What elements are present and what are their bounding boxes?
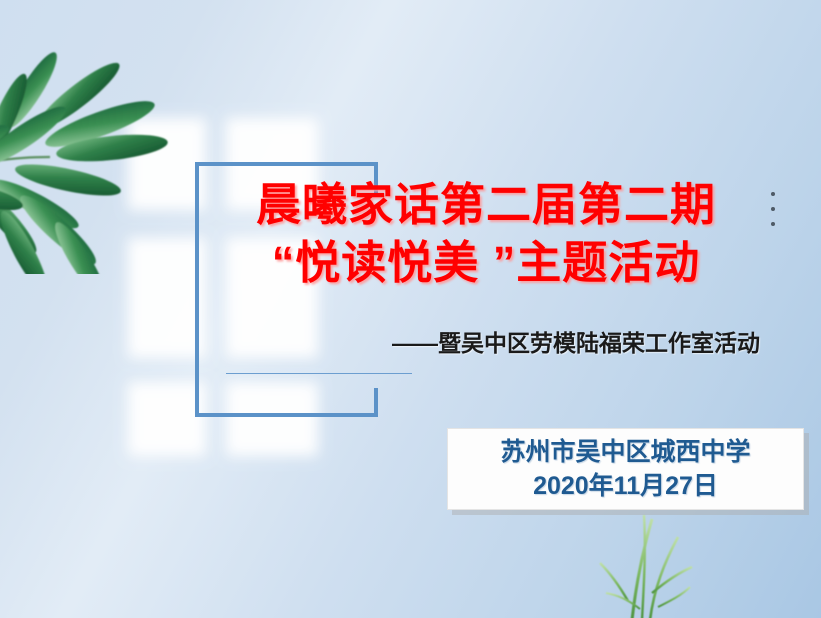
frame-right-lower-stub — [374, 388, 378, 417]
olive-branch-icon — [0, 24, 182, 274]
title-line-1: 晨曦家话第二届第二期 — [196, 176, 776, 234]
frame-top-edge — [195, 162, 378, 166]
background-pane — [226, 382, 318, 456]
event-date: 2020年11月27日 — [533, 469, 718, 503]
frame-bottom-edge — [195, 413, 378, 417]
title-line-2: “悦读悦美 ”主题活动 — [196, 234, 776, 292]
presentation-slide: 晨曦家话第二届第二期 “悦读悦美 ”主题活动 ——暨吴中区劳模陆福荣工作室活动 … — [0, 0, 821, 618]
subtitle: ——暨吴中区劳模陆福荣工作室活动 — [200, 328, 760, 358]
info-box: 苏州市吴中区城西中学 2020年11月27日 — [447, 428, 804, 510]
school-name: 苏州市吴中区城西中学 — [500, 435, 750, 469]
grass-blades-icon — [580, 505, 750, 618]
subtitle-divider — [226, 373, 412, 374]
title-block: 晨曦家话第二届第二期 “悦读悦美 ”主题活动 — [196, 176, 776, 292]
